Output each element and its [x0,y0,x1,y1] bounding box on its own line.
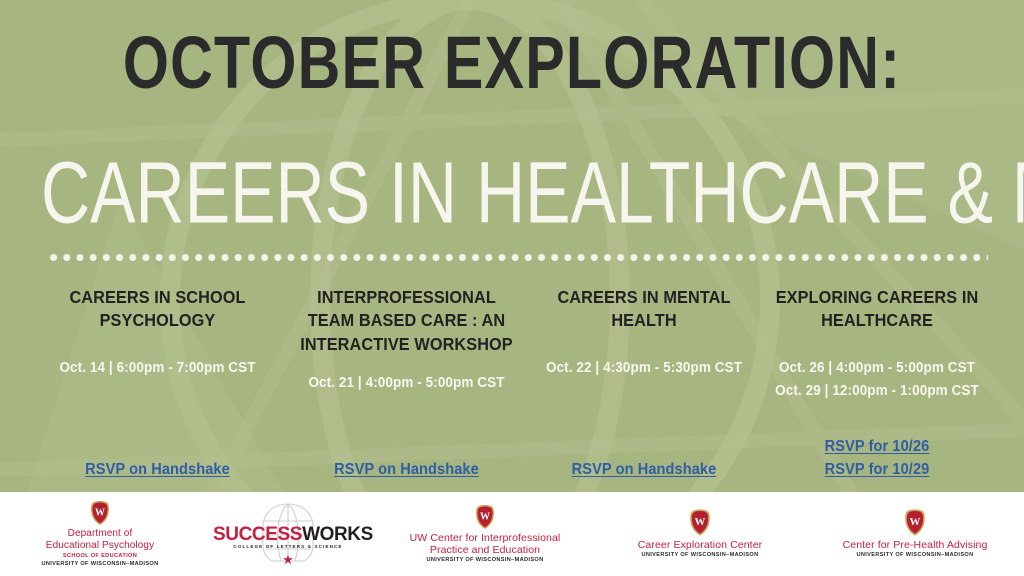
event-dates: Oct. 21 | 4:00pm - 5:00pm CST [299,372,514,395]
event-links: RSVP on Handshake [285,458,528,482]
logo-subtitle-university: UNIVERSITY OF WISCONSIN–MADISON [641,552,758,560]
event-column-mental-health: CAREERS IN MENTAL HEALTH Oct. 22 | 4:30p… [528,286,760,482]
rsvp-link[interactable]: RSVP for 10/26 [767,435,987,459]
logo-subtitle-school: SCHOOL OF EDUCATION [63,553,137,561]
logo-subtitle-college: COLLEGE OF LETTERS & SCIENCE [213,544,363,549]
logo-successworks: SUCCESSWORKS COLLEGE OF LETTERS & SCIENC… [200,492,376,576]
page-title-line-1: OCTOBER EXPLORATION: [102,0,921,100]
event-dates: Oct. 14 | 6:00pm - 7:00pm CST [45,357,271,380]
logo-title: SUCCESSWORKS [213,525,363,544]
event-title: INTERPROFESSIONAL TEAM BASED CARE : AN I… [299,286,514,356]
rsvp-link[interactable]: RSVP on Handshake [38,458,278,482]
star-icon: ★ [282,553,294,566]
logo-career-exploration-center: W Career Exploration Center UNIVERSITY O… [594,492,806,576]
event-date-line: Oct. 22 | 4:30pm - 5:30pm CST [542,357,747,380]
event-column-school-psychology: CAREERS IN SCHOOL PSYCHOLOGY Oct. 14 | 6… [30,286,285,482]
rsvp-link[interactable]: RSVP for 10/29 [767,458,987,482]
event-date-line: Oct. 26 | 4:00pm - 5:00pm CST [774,357,980,380]
logo-subtitle-university: UNIVERSITY OF WISCONSIN–MADISON [856,552,973,560]
logo-subtitle-university: UNIVERSITY OF WISCONSIN–MADISON [426,557,543,565]
event-dates: Oct. 22 | 4:30pm - 5:30pm CST [542,357,747,380]
event-title: CAREERS IN MENTAL HEALTH [542,286,747,333]
logo-title-success: SUCCESS [213,524,302,545]
event-title: EXPLORING CAREERS IN HEALTHCARE [774,286,980,333]
uw-crest-icon: W [688,508,712,537]
logo-title-works: WORKS [302,524,373,545]
uw-crest-icon: W [89,500,111,526]
event-links: RSVP for 10/26 RSVP for 10/29 [760,435,994,482]
dotted-divider [47,254,988,261]
uw-crest-icon: W [903,508,927,537]
svg-text:W: W [910,517,921,529]
logo-pre-health-advising: W Center for Pre-Health Advising UNIVERS… [806,492,1024,576]
event-columns: CAREERS IN SCHOOL PSYCHOLOGY Oct. 14 | 6… [30,286,994,482]
event-title: CAREERS IN SCHOOL PSYCHOLOGY [45,286,271,333]
svg-text:W: W [95,507,105,518]
sponsor-logo-bar: W Department of Educational Psychology S… [0,492,1024,576]
event-links: RSVP on Handshake [30,458,285,482]
event-column-exploring-careers-healthcare: EXPLORING CAREERS IN HEALTHCARE Oct. 26 … [760,286,994,482]
rsvp-link[interactable]: RSVP on Handshake [535,458,753,482]
logo-subtitle-university: UNIVERSITY OF WISCONSIN–MADISON [41,561,158,569]
uw-crest-icon: W [474,504,496,530]
event-dates: Oct. 26 | 4:00pm - 5:00pm CST Oct. 29 | … [774,357,980,404]
event-date-line: Oct. 14 | 6:00pm - 7:00pm CST [45,357,271,380]
logo-title: Center for Pre-Health Advising [843,539,988,551]
logo-title: Career Exploration Center [638,539,762,551]
event-links: RSVP on Handshake [528,458,760,482]
event-date-line: Oct. 29 | 12:00pm - 1:00pm CST [774,380,980,403]
event-poster: OCTOBER EXPLORATION: CAREERS IN HEALTHCA… [0,0,1024,576]
logo-title: Department of Educational Psychology [46,528,154,552]
page-title-line-2: CAREERS IN HEALTHCARE & MENTAL HEALTH [41,100,983,237]
logo-educational-psychology: W Department of Educational Psychology S… [0,492,200,576]
event-date-line: Oct. 21 | 4:00pm - 5:00pm CST [299,372,514,395]
svg-text:W: W [695,517,706,529]
logo-uw-cipe: W UW Center for Interprofessional Practi… [376,492,594,576]
logo-title: UW Center for Interprofessional Practice… [410,532,561,557]
svg-text:W: W [480,511,490,522]
event-column-interprofessional-team-based-care: INTERPROFESSIONAL TEAM BASED CARE : AN I… [285,286,528,482]
poster-header: OCTOBER EXPLORATION: CAREERS IN HEALTHCA… [0,0,1024,216]
rsvp-link[interactable]: RSVP on Handshake [292,458,520,482]
